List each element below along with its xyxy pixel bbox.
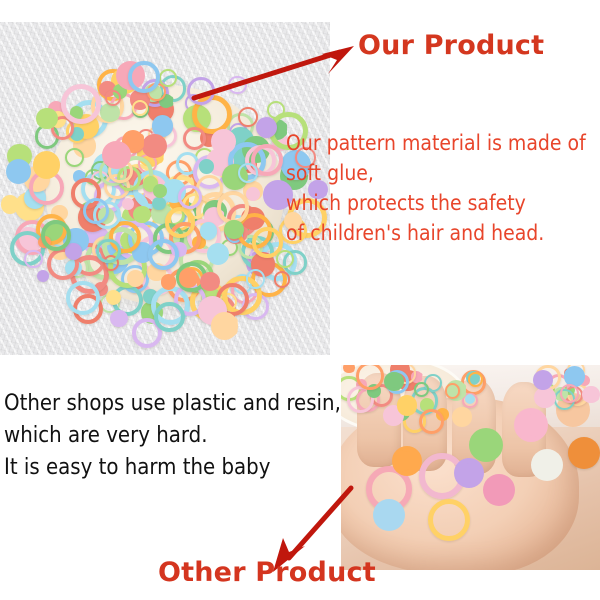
hair-tie-ring [41,220,71,250]
flower-center [570,373,578,381]
other-product-photo [341,365,600,570]
hair-tie-ring [165,207,196,238]
flower-center [210,213,218,221]
hair-tie-ring [128,61,159,92]
flower-charm [161,274,176,289]
flower-charm [373,499,405,531]
flower-center [459,413,466,420]
flower-center [403,402,411,410]
flower-center [525,419,538,432]
flower-charm [36,108,57,129]
copy-line: which protects the safety [286,188,586,218]
flower-charm [199,159,214,174]
flower-center [14,167,24,177]
our-product-copy: Our pattern material is made of soft glu… [286,128,586,248]
flower-center [463,467,474,478]
flower-charm [531,449,563,481]
flower-center [214,250,222,258]
copy-line: soft glue, [286,158,586,188]
flower-center [74,131,79,136]
flower-charm [179,268,198,287]
hair-tie-ring [276,250,294,268]
hair-tie-ring [468,372,482,386]
hair-tie-bead [37,270,49,282]
flower-center [158,188,163,193]
infographic-canvas: Our Product Our pattern material is made… [0,0,600,600]
flower-charm [211,312,239,340]
flower-center [539,376,547,384]
flower-charm [246,187,260,201]
hair-tie-ring [178,185,202,209]
flower-charm [127,270,144,287]
flower-charm [483,474,515,506]
flower-center [493,484,505,496]
flower-charm [469,428,503,462]
hair-tie-ring [445,383,460,398]
hair-tie-ring [419,409,444,434]
other-product-copy: Other shops use plastic and resin, which… [4,388,341,484]
flower-center [6,201,13,208]
flower-center [132,275,138,281]
hair-tie-ring [228,76,246,94]
flower-center [43,114,51,122]
flower-charm [397,395,417,415]
flower-center [251,191,256,196]
hair-tie-bead [568,437,600,469]
flower-center [219,137,228,146]
copy-line: Other shops use plastic and resin, [4,388,341,420]
flower-charm [514,408,548,442]
flower-center [468,397,472,401]
flower-charm [454,458,484,488]
flower-center [138,249,146,257]
flower-center [163,98,169,104]
hair-tie-ring [65,148,84,167]
flower-charm [1,195,19,213]
our-product-photo [0,22,330,355]
flower-charm [122,198,134,210]
hair-tie-bead [152,197,165,210]
flower-center [157,209,165,217]
hair-tie-ring [154,302,185,333]
flower-center [424,402,429,407]
flower-center [185,274,192,281]
other-product-title: Other Product [158,557,376,588]
flower-center [41,160,51,170]
flower-center [541,394,549,402]
hair-tie-bead [106,290,121,305]
hair-tie-ring [183,127,206,150]
flower-charm [452,407,472,427]
flower-center [150,141,159,150]
flower-center [139,211,146,218]
flower-center [169,186,178,195]
flower-charm [33,151,60,178]
flower-center [272,189,283,200]
copy-line: which are very hard. [4,420,341,452]
flower-center [204,163,210,169]
flower-center [129,137,138,146]
flower-charm [392,446,422,476]
hair-tie-ring [428,499,470,541]
flower-center [383,509,395,521]
hair-tie-ring [96,239,121,264]
copy-line: of children's hair and head. [286,218,586,248]
flower-center [166,279,172,285]
hair-tie-bead [200,222,217,239]
flower-center [390,378,397,385]
flower-charm [102,141,130,169]
flower-center [541,459,553,471]
flower-center [480,439,493,452]
flower-center [125,202,130,207]
flower-charm [6,159,31,184]
our-product-title: Our Product [358,30,544,61]
flower-charm [211,129,236,154]
flower-charm [582,386,600,404]
flower-center [219,321,230,332]
hair-tie-ring [238,163,258,183]
hair-tie-ring [414,382,428,396]
copy-line: Our pattern material is made of [286,128,586,158]
flower-charm [133,206,150,223]
flower-charm [207,243,229,265]
flower-center [107,109,114,116]
flower-charm [384,372,403,391]
hair-tie-bead [224,220,243,239]
hair-tie-ring [61,84,101,124]
flower-center [389,412,397,420]
hair-tie-ring [187,77,215,105]
flower-center [215,157,226,168]
hair-tie-ring [246,269,265,288]
flower-center [347,365,351,369]
copy-line: It is easy to harm the baby [4,452,341,484]
flower-charm [200,272,220,292]
flower-center [111,149,122,160]
flower-charm [465,394,475,404]
hair-tie-bead [110,310,127,327]
flower-charm [142,134,166,158]
flower-center [206,278,213,285]
flower-charm [534,387,555,408]
flower-center [80,142,89,151]
hair-tie-ring [24,250,42,268]
flower-center [588,391,595,398]
flower-center [401,455,412,466]
